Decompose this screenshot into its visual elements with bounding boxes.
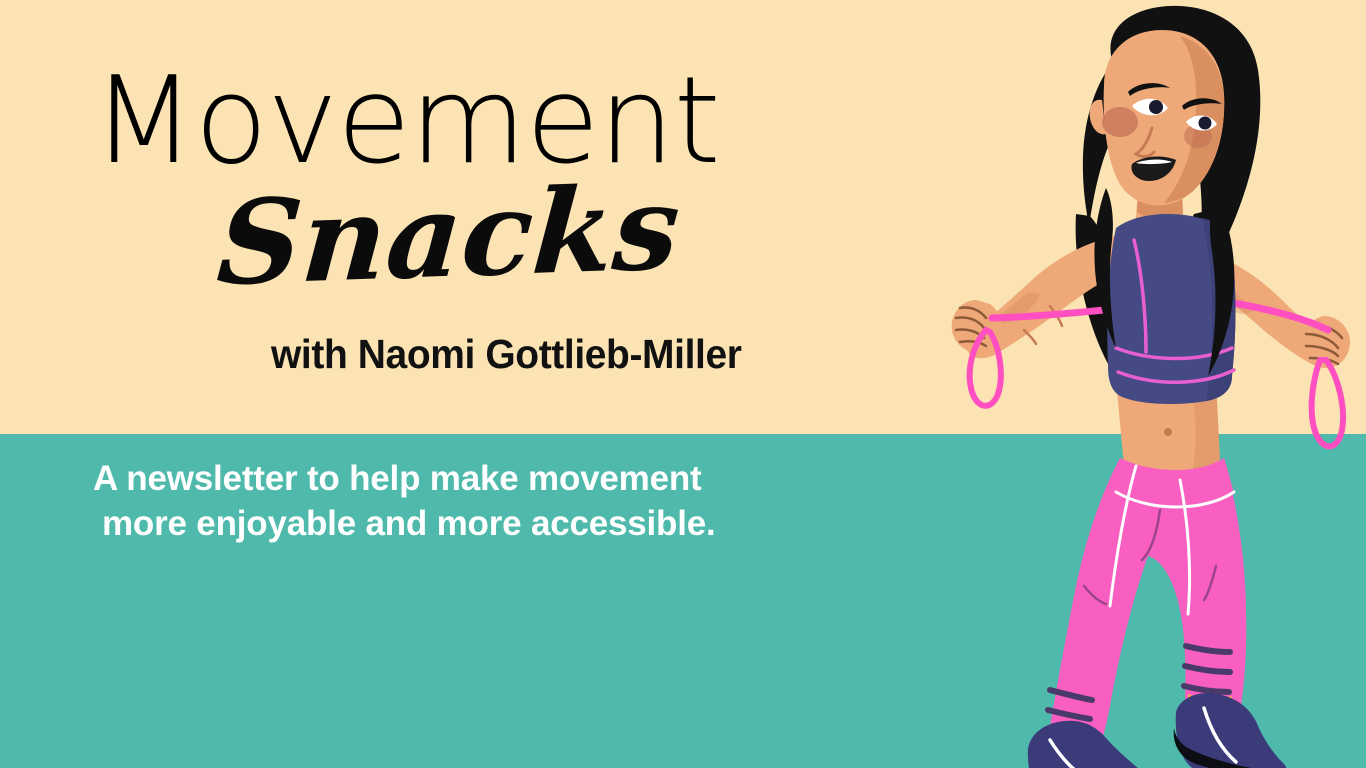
- newsletter-banner: Movement Snacks with Naomi Gottlieb-Mill…: [0, 0, 1366, 768]
- page-title-line2-script: Snacks: [214, 170, 683, 302]
- blush-cheek-left-icon: [1102, 107, 1138, 137]
- tagline: A newsletter to help make movement more …: [93, 456, 853, 546]
- tagline-line1: A newsletter to help make movement: [93, 459, 701, 498]
- resistance-band-loop-right-icon: [1312, 360, 1343, 446]
- woman-exercising-illustration: [880, 0, 1366, 768]
- byline: with Naomi Gottlieb-Miller: [271, 334, 742, 375]
- navel-icon: [1164, 428, 1172, 436]
- right-sneaker-icon: [1174, 693, 1289, 768]
- left-sneaker-icon: [1026, 721, 1148, 768]
- tagline-line2: more enjoyable and more accessible.: [93, 501, 853, 546]
